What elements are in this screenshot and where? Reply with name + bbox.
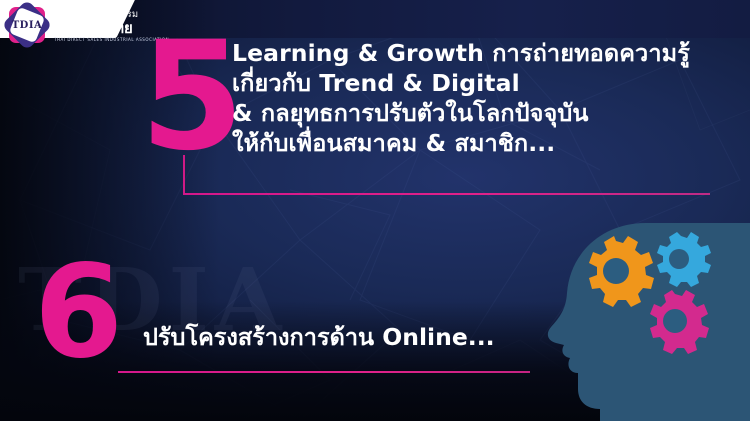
item-5-line-1: Learning & Growth การถ่ายทอดความรู้ — [232, 38, 748, 68]
head-with-gears-illustration — [542, 221, 750, 421]
item-5-line-4: ให้กับเพื่อนสมาคม & สมาชิก... — [232, 128, 748, 158]
item-5-line-3: & กลยุทธการปรับตัวในโลกปัจจุบัน — [232, 98, 748, 128]
tdia-logo-icon: TDIA — [6, 4, 48, 46]
presentation-slide: TDIA TDIA สมาคมอุตสาหกรรม ขายตรงไทย THAI… — [0, 0, 750, 421]
item-number-6: 6 — [34, 249, 123, 377]
item-6-underline — [118, 371, 530, 373]
item-5-connector-vertical — [183, 155, 185, 195]
logo-monogram: TDIA — [6, 4, 48, 46]
item-5-underline — [183, 193, 710, 195]
item-number-5: 5 — [140, 22, 244, 172]
item-5-text: Learning & Growth การถ่ายทอดความรู้ เกี่… — [232, 38, 748, 158]
item-5-line-2: เกี่ยวกับ Trend & Digital — [232, 68, 748, 98]
item-6-text: ปรับโครงสร้างการด้าน Online... — [143, 322, 495, 352]
